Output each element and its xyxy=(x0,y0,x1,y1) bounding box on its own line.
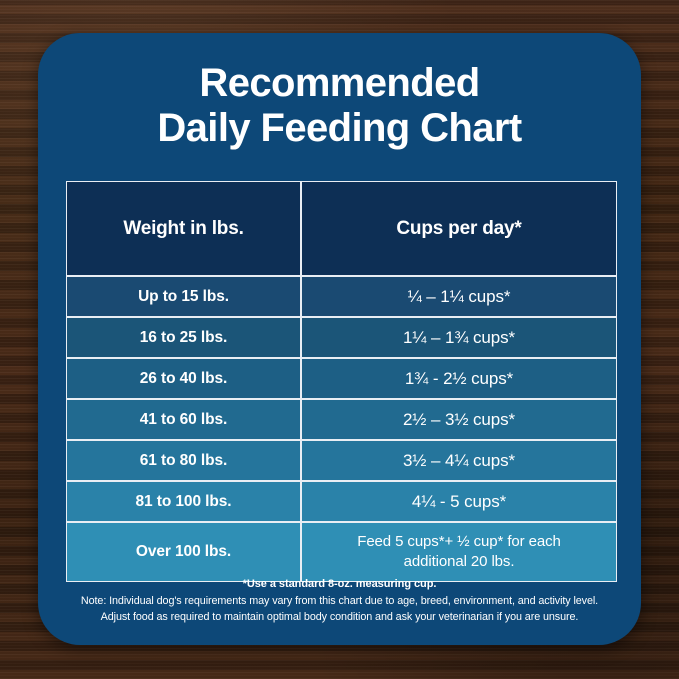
feeding-chart-card: Recommended Daily Feeding Chart Weight i… xyxy=(38,33,641,645)
table-row: 81 to 100 lbs. 4¼ - 5 cups* xyxy=(66,481,617,522)
table-row: 16 to 25 lbs. 1¼ – 1¾ cups* xyxy=(66,317,617,358)
table-body: Up to 15 lbs. ¼ – 1¼ cups* 16 to 25 lbs.… xyxy=(66,276,617,582)
page-title-line-1: Recommended xyxy=(38,61,641,106)
table-row: 41 to 60 lbs. 2½ – 3½ cups* xyxy=(66,399,617,440)
cell-weight: Over 100 lbs. xyxy=(66,522,301,582)
cell-weight: 26 to 40 lbs. xyxy=(66,358,301,399)
cell-cups: Feed 5 cups*+ ½ cup* for each additional… xyxy=(301,522,617,582)
footnote-measuring-cup: *Use a standard 8-oz. measuring cup. xyxy=(48,576,631,593)
column-header-cups: Cups per day* xyxy=(301,181,617,276)
table-row: Over 100 lbs. Feed 5 cups*+ ½ cup* for e… xyxy=(66,522,617,582)
footnote-note-line-1: Note: Individual dog's requirements may … xyxy=(48,593,631,610)
cell-cups: 1¼ – 1¾ cups* xyxy=(301,317,617,358)
column-header-weight: Weight in lbs. xyxy=(66,181,301,276)
footnotes: *Use a standard 8-oz. measuring cup. Not… xyxy=(48,576,631,626)
cell-cups: 3½ – 4¼ cups* xyxy=(301,440,617,481)
page-title: Recommended Daily Feeding Chart xyxy=(38,61,641,151)
table-row: 26 to 40 lbs. 1¾ - 2½ cups* xyxy=(66,358,617,399)
page-title-line-2: Daily Feeding Chart xyxy=(38,106,641,151)
cell-cups-line-1: Feed 5 cups*+ ½ cup* for each xyxy=(302,532,616,552)
table-header-row: Weight in lbs. Cups per day* xyxy=(66,181,617,276)
cell-weight: 81 to 100 lbs. xyxy=(66,481,301,522)
feeding-table: Weight in lbs. Cups per day* Up to 15 lb… xyxy=(66,181,617,582)
footnote-note-line-2: Adjust food as required to maintain opti… xyxy=(48,609,631,626)
cell-cups: 4¼ - 5 cups* xyxy=(301,481,617,522)
cell-cups-line-2: additional 20 lbs. xyxy=(302,552,616,572)
cell-cups: 1¾ - 2½ cups* xyxy=(301,358,617,399)
cell-cups: ¼ – 1¼ cups* xyxy=(301,276,617,317)
table-row: Up to 15 lbs. ¼ – 1¼ cups* xyxy=(66,276,617,317)
cell-cups: 2½ – 3½ cups* xyxy=(301,399,617,440)
table-row: 61 to 80 lbs. 3½ – 4¼ cups* xyxy=(66,440,617,481)
cell-weight: 16 to 25 lbs. xyxy=(66,317,301,358)
cell-weight: 61 to 80 lbs. xyxy=(66,440,301,481)
cell-weight: Up to 15 lbs. xyxy=(66,276,301,317)
cell-weight: 41 to 60 lbs. xyxy=(66,399,301,440)
table-header: Weight in lbs. Cups per day* xyxy=(66,181,617,276)
